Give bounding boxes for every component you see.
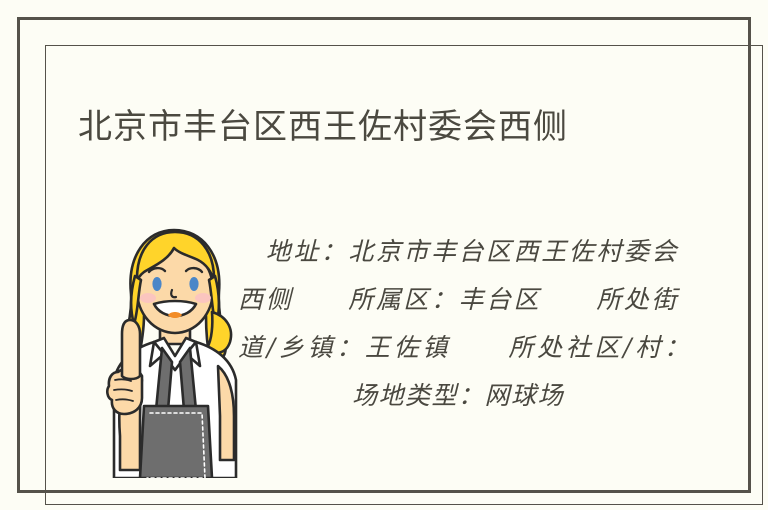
apron xyxy=(140,406,212,478)
blush-left xyxy=(140,293,156,303)
page-title: 北京市丰台区西王佐村委会西侧 xyxy=(78,105,568,149)
eye-left xyxy=(152,277,161,291)
venue-detail-text: 地址：北京市丰台区西王佐村委会西侧 所属区：丰台区 所处街道/乡镇：王佐镇 所处… xyxy=(238,228,678,420)
page-outer-frame: 北京市丰台区西王佐村委会西侧 xyxy=(17,17,751,493)
eye-right xyxy=(189,277,198,291)
content-area: 地址：北京市丰台区西王佐村委会西侧 所属区：丰台区 所处街道/乡镇：王佐镇 所处… xyxy=(46,200,762,480)
blush-right xyxy=(195,293,211,303)
index-finger-pointing-icon xyxy=(122,320,140,379)
woman-pointing-up-illustration xyxy=(94,220,254,478)
